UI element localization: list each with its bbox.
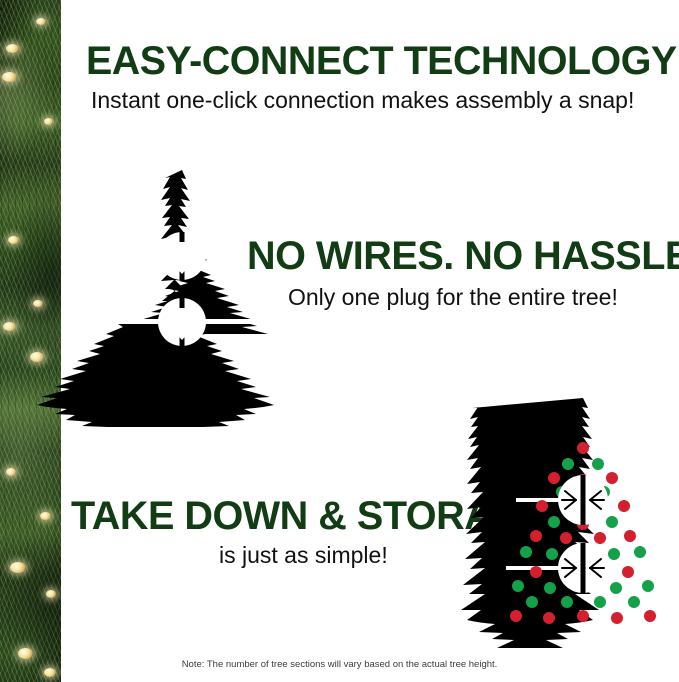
ornament-red (577, 442, 589, 454)
light-bulb-icon (8, 236, 19, 244)
light-bulb-icon (6, 468, 16, 476)
ornament-green (592, 458, 604, 470)
ornament-red (530, 530, 542, 542)
product-feature-infographic: EASY-CONNECT TECHNOLOGY Instant one-clic… (0, 0, 679, 682)
ornament-green (610, 582, 622, 594)
light-bulb-icon (3, 322, 16, 331)
light-bulb-icon (40, 512, 51, 520)
ornament-red (530, 566, 542, 578)
ornament-red (606, 472, 618, 484)
ornament-green (520, 546, 532, 558)
ornament-red (548, 472, 560, 484)
ornament-red (543, 612, 555, 624)
ornament-green (561, 596, 573, 608)
light-bulb-icon (30, 352, 44, 362)
ornament-red (594, 532, 606, 544)
ornament-red (577, 610, 589, 622)
separation-badge-apart (558, 475, 608, 525)
light-bulb-icon (18, 648, 33, 659)
ornament-red (644, 610, 656, 622)
light-bulb-icon (44, 118, 53, 125)
ornament-green (526, 596, 538, 608)
heading-easy-connect: EASY-CONNECT TECHNOLOGY (86, 41, 677, 81)
branch-photo-shading (0, 0, 61, 682)
ornament-green (634, 546, 646, 558)
ornament-green (544, 582, 556, 594)
ornament-green (594, 596, 606, 608)
ornament-green (548, 516, 560, 528)
subheading-easy-connect: Instant one-click connection makes assem… (91, 89, 634, 112)
decorated-christmas-tree-silhouette (492, 396, 674, 646)
subheading-take-down: is just as simple! (219, 544, 388, 567)
light-bulb-icon (10, 562, 26, 573)
ornament-red (622, 566, 634, 578)
subheading-no-wires: Only one plug for the entire tree! (288, 286, 618, 309)
light-bulb-icon (6, 44, 19, 53)
ornament-green (512, 580, 524, 592)
light-bulb-icon (33, 300, 43, 307)
ornament-red (618, 500, 630, 512)
footnote-text: Note: The number of tree sections will v… (0, 659, 679, 670)
ornament-red (536, 500, 548, 512)
ornament-green (546, 548, 558, 560)
ornament-red (510, 610, 522, 622)
light-bulb-icon (2, 72, 17, 82)
ornament-red (624, 530, 636, 542)
ornament-red (611, 612, 623, 624)
separation-badge-apart (558, 543, 608, 593)
light-bulb-icon (46, 590, 56, 598)
plain-tree-body (37, 170, 274, 427)
connector-badge-down (158, 298, 206, 346)
connector-badge-down (158, 232, 206, 280)
heading-no-wires: NO WIRES. NO HASSLE! (247, 236, 679, 276)
ornament-green (642, 580, 654, 592)
ornament-green (606, 516, 618, 528)
ornament-green (628, 596, 640, 608)
ornament-green (562, 458, 574, 470)
plain-tree-svg (90, 168, 274, 400)
decorated-tree-svg (492, 396, 674, 646)
ornament-red (560, 532, 572, 544)
lit-christmas-tree-branch-photo (0, 0, 61, 682)
light-bulb-icon (36, 18, 46, 25)
black-christmas-tree-silhouette (90, 168, 274, 400)
ornament-green (608, 548, 620, 560)
